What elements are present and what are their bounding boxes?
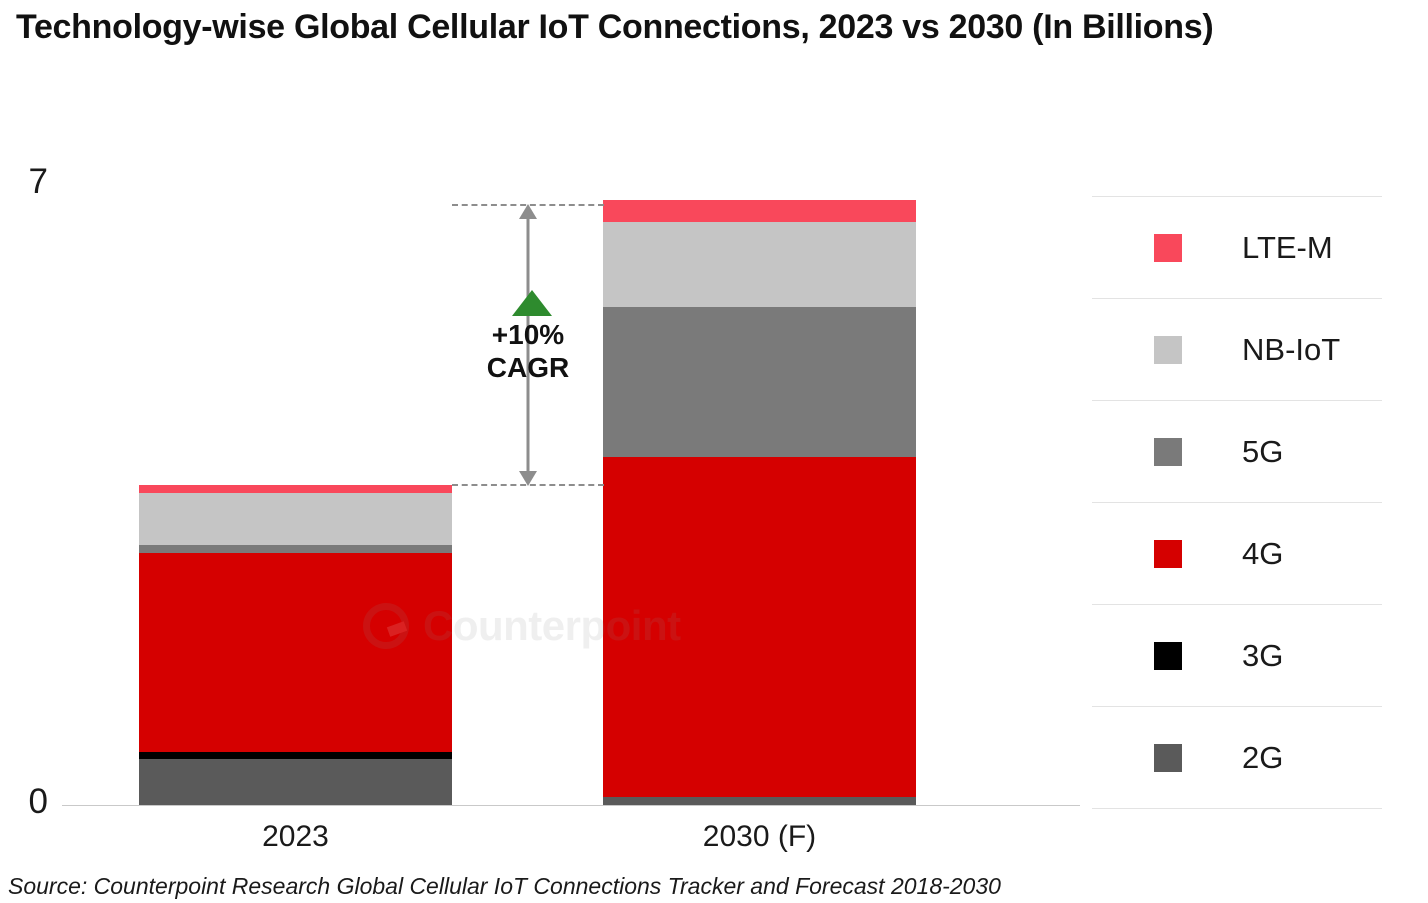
legend-item-5g[interactable]: 5G [1092, 400, 1382, 502]
legend-swatch-lte-m [1154, 234, 1182, 262]
legend-label-3g: 3G [1242, 639, 1283, 673]
legend-label-2g: 2G [1242, 741, 1283, 775]
bar-2023-segment-lte-m[interactable] [139, 485, 452, 493]
bar-2023-segment-2g[interactable] [139, 759, 452, 805]
source-note: Source: Counterpoint Research Global Cel… [8, 872, 1001, 900]
legend-swatch-4g [1154, 540, 1182, 568]
bar-2023-segment-3g[interactable] [139, 752, 452, 759]
legend-swatch-5g [1154, 438, 1182, 466]
bar-2030-segment-2g[interactable] [603, 797, 916, 805]
legend-label-nb-iot: NB-IoT [1242, 333, 1340, 367]
bar-2023-segment-nb-iot[interactable] [139, 493, 452, 545]
x-axis-line [62, 805, 1080, 806]
y-axis-tick-top: 7 [0, 164, 48, 199]
cagr-value: +10% [446, 318, 610, 351]
x-axis-label-2030: 2030 (F) [603, 820, 916, 854]
y-axis-tick-zero: 0 [0, 784, 48, 819]
cagr-text: +10% CAGR [446, 318, 610, 384]
legend-item-2g[interactable]: 2G [1092, 706, 1382, 809]
x-axis-label-2023: 2023 [139, 820, 452, 854]
legend-swatch-nb-iot [1154, 336, 1182, 364]
legend-swatch-2g [1154, 744, 1182, 772]
bar-2030-segment-lte-m[interactable] [603, 200, 916, 222]
legend-item-lte-m[interactable]: LTE-M [1092, 196, 1382, 298]
bar-2023-segment-5g[interactable] [139, 545, 452, 553]
legend-label-lte-m: LTE-M [1242, 231, 1333, 265]
green-up-triangle-icon [512, 290, 552, 316]
plot-area: 7 0 Counterpoint 2023 2030 (F) [0, 0, 1080, 860]
bar-2030-segment-nb-iot[interactable] [603, 222, 916, 307]
legend-swatch-3g [1154, 642, 1182, 670]
bar-2030-segment-5g[interactable] [603, 307, 916, 457]
legend: LTE-M NB-IoT 5G 4G 3G 2G [1092, 196, 1382, 809]
cagr-annotation: +10% CAGR [452, 196, 604, 492]
bar-2023-segment-4g[interactable] [139, 553, 452, 752]
chart-page: Technology-wise Global Cellular IoT Conn… [0, 0, 1428, 903]
bar-2030-segment-4g[interactable] [603, 457, 916, 797]
legend-label-5g: 5G [1242, 435, 1283, 469]
cagr-metric: CAGR [446, 351, 610, 384]
legend-item-nb-iot[interactable]: NB-IoT [1092, 298, 1382, 400]
legend-label-4g: 4G [1242, 537, 1283, 571]
legend-item-3g[interactable]: 3G [1092, 604, 1382, 706]
legend-item-4g[interactable]: 4G [1092, 502, 1382, 604]
